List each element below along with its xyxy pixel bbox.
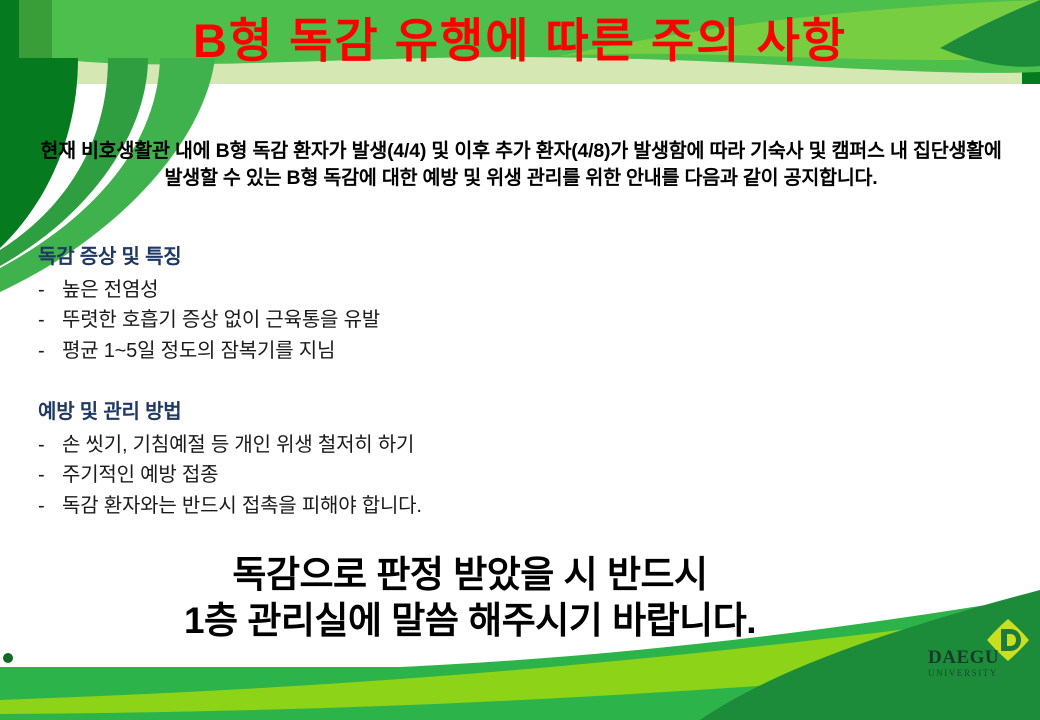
list-item-label: 높은 전염성 (62, 275, 158, 305)
logo-wordmark: DAEGU UNIVERSITY (928, 648, 1004, 679)
bullet-dash-icon: - (38, 336, 62, 366)
university-logo: DAEGU UNIVERSITY (928, 618, 1032, 690)
list-item: - 주기적인 예방 접종 (38, 460, 758, 490)
bullet-dash-icon: - (38, 430, 62, 460)
bullet-dash-icon: - (38, 491, 62, 521)
bullet-dash-icon: - (38, 460, 62, 490)
section-symptoms: 독감 증상 및 특징 - 높은 전염성 - 뚜렷한 호흡기 증상 없이 근육통을… (38, 244, 758, 366)
list-item-label: 주기적인 예방 접종 (62, 460, 218, 490)
section-prevention: 예방 및 관리 방법 - 손 씻기, 기침예절 등 개인 위생 철저히 하기 -… (38, 399, 758, 521)
section-prevention-heading: 예방 및 관리 방법 (38, 399, 758, 426)
list-item-label: 독감 환자와는 반드시 접촉을 피해야 합니다. (62, 491, 422, 521)
footer-dot-accent (3, 653, 13, 663)
section-symptoms-heading: 독감 증상 및 특징 (38, 244, 758, 271)
cta-line-2: 1층 관리실에 말씀 해주시기 바랍니다. (20, 598, 920, 644)
list-item: - 평균 1~5일 정도의 잠복기를 지님 (38, 336, 758, 366)
bullet-dash-icon: - (38, 305, 62, 335)
list-item-label: 손 씻기, 기침예절 등 개인 위생 철저히 하기 (62, 430, 414, 460)
list-item: - 뚜렷한 호흡기 증상 없이 근육통을 유발 (38, 305, 758, 335)
list-item-label: 평균 1~5일 정도의 잠복기를 지님 (62, 336, 335, 366)
bullet-dash-icon: - (38, 275, 62, 305)
section-prevention-list: - 손 씻기, 기침예절 등 개인 위생 철저히 하기 - 주기적인 예방 접종… (38, 430, 758, 521)
logo-subtitle: UNIVERSITY (928, 668, 1004, 679)
page-title: B형 독감 유행에 따른 주의 사항 (193, 17, 847, 68)
logo-name: DAEGU (928, 648, 1004, 667)
section-symptoms-list: - 높은 전염성 - 뚜렷한 호흡기 증상 없이 근육통을 유발 - 평균 1~… (38, 275, 758, 366)
list-item-label: 뚜렷한 호흡기 증상 없이 근육통을 유발 (62, 305, 380, 335)
footer-green-curve (0, 667, 1040, 720)
title-banner: B형 독감 유행에 따른 주의 사항 (0, 0, 1040, 84)
list-item: - 독감 환자와는 반드시 접촉을 피해야 합니다. (38, 491, 758, 521)
poster-canvas: B형 독감 유행에 따른 주의 사항 현재 비호생활관 내에 B형 독감 환자가… (0, 0, 1040, 720)
list-item: - 손 씻기, 기침예절 등 개인 위생 철저히 하기 (38, 430, 758, 460)
list-item: - 높은 전염성 (38, 275, 758, 305)
call-to-action: 독감으로 판정 받았을 시 반드시 1층 관리실에 말씀 해주시기 바랍니다. (20, 552, 920, 645)
cta-line-1: 독감으로 판정 받았을 시 반드시 (20, 552, 920, 598)
intro-paragraph: 현재 비호생활관 내에 B형 독감 환자가 발생(4/4) 및 이후 추가 환자… (40, 138, 1002, 193)
